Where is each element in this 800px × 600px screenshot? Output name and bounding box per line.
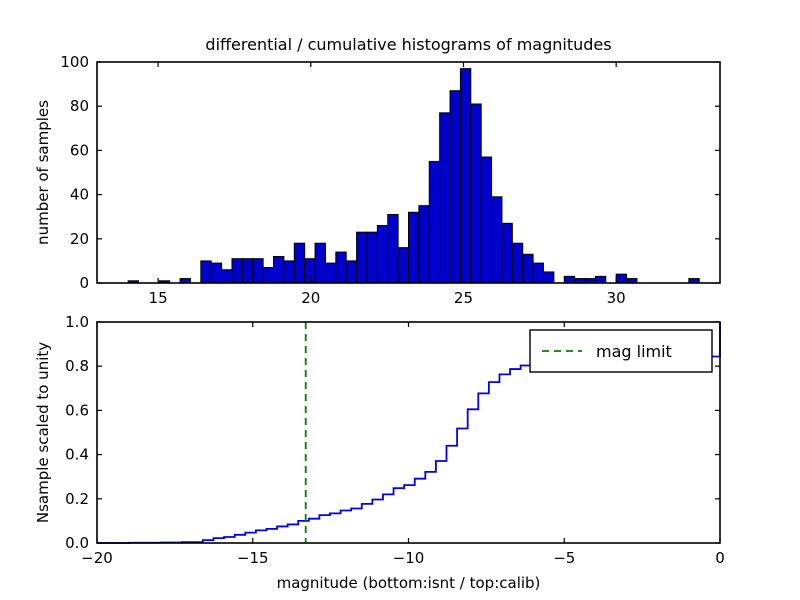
y-tick-label: 0	[79, 274, 89, 292]
histogram-bar	[502, 223, 512, 283]
y-tick-label: 60	[70, 141, 89, 159]
histogram-bar	[284, 261, 294, 283]
histogram-bar	[543, 272, 553, 283]
y-axis-label: Nsample scaled to unity	[34, 342, 52, 523]
histogram-bar	[450, 91, 460, 283]
y-axis-label: number of samples	[34, 100, 52, 245]
histogram-bar	[367, 232, 377, 283]
x-tick-label: 25	[454, 289, 473, 307]
x-tick-label: −15	[237, 549, 269, 567]
bottom-panel: 0.00.20.40.60.81.0−20−15−10−50Nsample sc…	[34, 313, 725, 592]
y-tick-label: 0.2	[65, 490, 89, 508]
y-tick-label: 0.4	[65, 446, 89, 464]
x-tick-label: −5	[553, 549, 575, 567]
histogram-bar	[564, 276, 574, 283]
histogram-bar	[336, 252, 346, 283]
y-tick-label: 0.8	[65, 357, 89, 375]
histogram-bar	[440, 113, 450, 283]
y-tick-label: 20	[70, 230, 89, 248]
histogram-bar	[305, 259, 315, 283]
histogram-bar	[232, 259, 242, 283]
y-tick-label: 0.6	[65, 401, 89, 419]
histogram-bar	[398, 248, 408, 283]
histogram-bar	[481, 157, 491, 283]
histogram-bar	[409, 212, 419, 283]
y-tick-label: 1.0	[65, 313, 89, 331]
histogram-bar	[357, 232, 367, 283]
histogram-bar	[294, 243, 304, 283]
histogram-bar	[242, 259, 252, 283]
histogram-bar	[377, 226, 387, 283]
x-tick-label: 30	[607, 289, 626, 307]
histogram-bar	[201, 261, 211, 283]
chart-title: differential / cumulative histograms of …	[205, 35, 611, 54]
y-tick-label: 80	[70, 97, 89, 115]
histogram-bar	[315, 243, 325, 283]
histogram-bar	[523, 254, 533, 283]
histogram-bar	[492, 197, 502, 283]
x-tick-label: 20	[301, 289, 320, 307]
figure: 02040608010015202530number of samplesdif…	[0, 0, 800, 600]
histogram-bar	[429, 161, 439, 283]
histogram-bar	[346, 261, 356, 283]
histogram-bar	[595, 276, 605, 283]
histogram-bar	[533, 263, 543, 283]
top-panel: 02040608010015202530number of samplesdif…	[34, 35, 720, 307]
histogram-bar	[253, 259, 263, 283]
histogram-bar	[325, 263, 335, 283]
histogram-bars	[128, 69, 699, 283]
histogram-bar	[512, 243, 522, 283]
histogram-bar	[263, 268, 273, 283]
histogram-bar	[616, 274, 626, 283]
x-tick-label: −10	[393, 549, 425, 567]
legend-label-mag-limit: mag limit	[596, 342, 672, 361]
chart-canvas: 02040608010015202530number of samplesdif…	[0, 0, 800, 600]
y-tick-label: 40	[70, 186, 89, 204]
x-tick-label: −20	[81, 549, 113, 567]
x-tick-label: 0	[715, 549, 725, 567]
histogram-bar	[388, 214, 398, 283]
x-tick-label: 15	[149, 289, 168, 307]
histogram-bar	[211, 263, 221, 283]
histogram-bar	[419, 206, 429, 283]
histogram-bar	[222, 270, 232, 283]
x-axis-label: magnitude (bottom:isnt / top:calib)	[277, 574, 541, 592]
histogram-bar	[460, 69, 470, 283]
y-tick-label: 100	[60, 53, 89, 71]
histogram-bar	[471, 104, 481, 283]
legend[interactable]: mag limit	[530, 330, 712, 372]
histogram-bar	[274, 256, 284, 283]
